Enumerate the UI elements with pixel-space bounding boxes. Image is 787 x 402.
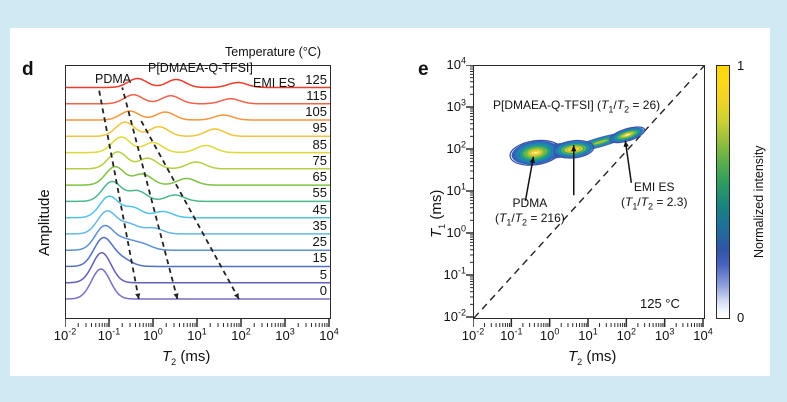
- panel-e-ytick-2: 100: [422, 225, 466, 240]
- panel-e-ytick-0: 10-2: [422, 309, 466, 324]
- panel-d-xlabel-symbol: T: [162, 348, 171, 365]
- panel-d-temp-label-65: 65: [285, 170, 327, 183]
- panel-d-header-temperature: Temperature (°C): [225, 45, 321, 59]
- panel-d-trend-EMI-ES: [141, 120, 239, 299]
- panel-e-xtick-4: 102: [608, 328, 644, 343]
- panel-d-temp-label-105: 105: [285, 105, 327, 118]
- panel-e-xtick-2: 100: [532, 328, 568, 343]
- panel-e-annotation-emi-es-label: EMI ES: [621, 180, 687, 194]
- panel-d-xtick-0: 10-2: [47, 328, 83, 343]
- panel-e-xlabel: T2 (ms): [568, 348, 616, 365]
- colorbar-max-label: 1: [737, 58, 744, 73]
- panel-e-annotation-polymer-label: P[DMAEA-Q-TFSI]: [493, 98, 594, 112]
- panel-e-annotation-pdma-label: PDMA: [495, 196, 565, 210]
- colorbar-min-label: 0: [737, 310, 744, 325]
- panel-e-annotation-pdma-ratio: (T1/T2 = 216): [495, 211, 565, 225]
- panel-e-ytick-3: 101: [422, 183, 466, 198]
- panel-d-temp-label-115: 115: [285, 89, 327, 102]
- panel-d-ylabel-amplitude: Amplitude: [36, 189, 53, 256]
- panel-d-temp-label-0: 0: [285, 284, 327, 297]
- panel-d-xtick-5: 103: [267, 328, 303, 343]
- panel-d-xlabel: T2 (ms): [162, 348, 210, 365]
- panel-e-xtick-0: 10-2: [455, 328, 491, 343]
- panel-d-temp-label-55: 55: [285, 186, 327, 199]
- panel-e-xtick-1: 10-1: [493, 328, 529, 343]
- panel-d-temp-label-75: 75: [285, 154, 327, 167]
- panel-e-xtick-3: 101: [570, 328, 606, 343]
- panel-e-annotation-polymer-ratio: (T1/T2 = 26): [597, 98, 660, 112]
- panel-d-trend-P-DMAEA-Q-TFSI-: [122, 88, 177, 300]
- panel-d-temp-label-85: 85: [285, 138, 327, 151]
- panel-e-annotation-emi-es-ratio: (T1/T2 = 2.3): [621, 195, 687, 209]
- panel-e-xtick-5: 103: [647, 328, 683, 343]
- panel-e-annotation-emi-es: EMI ES (T1/T2 = 2.3): [621, 180, 687, 209]
- panel-d-annotation-polymer: P[DMAEA-Q-TFSI]: [148, 61, 253, 75]
- colorbar-title: Normalized intensity: [752, 145, 766, 258]
- panel-d-xtick-4: 102: [223, 328, 259, 343]
- colorbar: [716, 65, 730, 319]
- panel-d-xlabel-unit: (ms): [176, 348, 210, 365]
- panel-d-temp-label-25: 25: [285, 235, 327, 248]
- panel-d-temp-label-15: 15: [285, 251, 327, 264]
- panel-d-temp-label-5: 5: [285, 268, 327, 281]
- panel-e-ytick-5: 103: [422, 99, 466, 114]
- panel-e-annotation-polymer: P[DMAEA-Q-TFSI] (T1/T2 = 26): [493, 98, 660, 112]
- panel-e-xtick-6: 104: [685, 328, 721, 343]
- panel-d-letter: d: [22, 60, 34, 79]
- panel-e-ytick-1: 10-1: [422, 267, 466, 282]
- figure-canvas: d Temperature (°C) Amplitude 10-210-1100…: [10, 28, 770, 376]
- panel-e-xlabel-unit: (ms): [582, 348, 616, 365]
- panel-d-temp-label-35: 35: [285, 219, 327, 232]
- panel-d-xtick-2: 100: [135, 328, 171, 343]
- panel-e-ytick-4: 102: [422, 141, 466, 156]
- panel-d-xtick-1: 10-1: [91, 328, 127, 343]
- panel-d-temp-label-95: 95: [285, 121, 327, 134]
- panel-d-temp-label-45: 45: [285, 203, 327, 216]
- panel-d-xtick-3: 101: [179, 328, 215, 343]
- panel-d-annotation-pdma: PDMA: [95, 72, 131, 86]
- panel-d-temp-label-125: 125: [285, 73, 327, 86]
- panel-e-temperature-badge: 125 °C: [640, 296, 680, 311]
- panel-e-annotation-pdma: PDMA (T1/T2 = 216): [495, 196, 565, 225]
- panel-d-xtick-6: 104: [311, 328, 347, 343]
- panel-d-trend-PDMA: [99, 88, 139, 300]
- panel-e-ytick-6: 104: [422, 57, 466, 72]
- panel-e-xlabel-symbol: T: [568, 348, 577, 365]
